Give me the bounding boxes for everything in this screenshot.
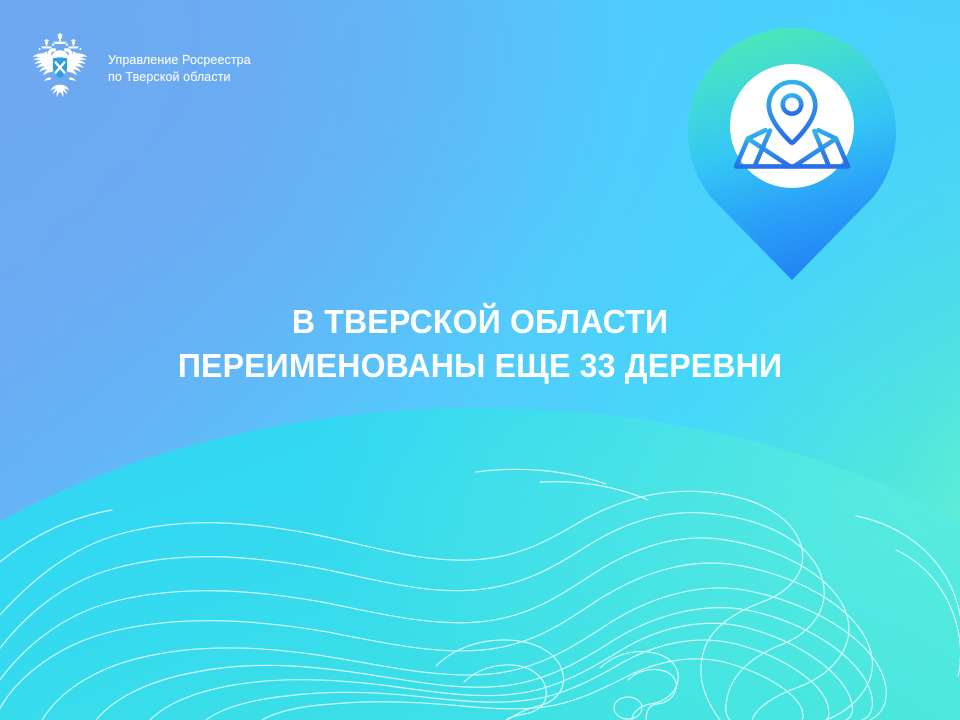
brand-line-1: Управление Росреестра (108, 52, 251, 69)
announcement-card: Управление Росреестра по Тверской област… (0, 0, 960, 720)
brand-line-2: по Тверской области (108, 69, 251, 86)
headline-line-1: В ТВЕРСКОЙ ОБЛАСТИ (14, 300, 945, 344)
double-headed-eagle-emblem-icon (22, 32, 98, 106)
brand-name: Управление Росреестра по Тверской област… (108, 52, 251, 86)
topographic-contour-lines (0, 430, 960, 720)
page-title: В ТВЕРСКОЙ ОБЛАСТИ ПЕРЕИМЕНОВАНЫ ЕЩЕ 33 … (14, 300, 945, 387)
brand-logo: Управление Росреестра по Тверской област… (22, 32, 251, 106)
map-pin-marker-icon (686, 26, 898, 282)
headline-line-2: ПЕРЕИМЕНОВАНЫ ЕЩЕ 33 ДЕРЕВНИ (14, 344, 945, 388)
